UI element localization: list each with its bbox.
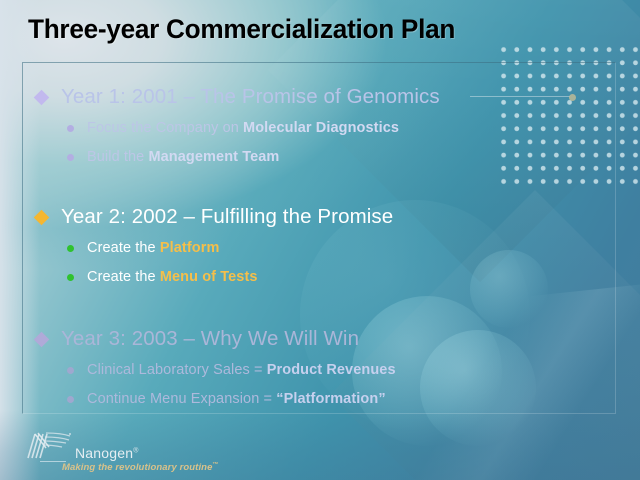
item-text-emphasis: Platform xyxy=(160,240,220,256)
item-text-emphasis: Molecular Diagnostics xyxy=(243,120,399,136)
list-item: Clinical Laboratory Sales = Product Reve… xyxy=(0,357,640,383)
list-item: Create the Platform xyxy=(0,235,640,261)
item-text-emphasis: “Platformation” xyxy=(276,391,385,407)
logo-company-name: Nanogen® xyxy=(75,445,139,461)
year-block-2: Year 2: 2002 – Fulfilling the Promise Cr… xyxy=(0,202,640,290)
item-text-plain: Continue Menu Expansion = xyxy=(87,391,276,407)
presentation-slide: Three-year Commercialization Plan Year 1… xyxy=(0,0,640,480)
logo-tagline: Making the revolutionary routine™ xyxy=(62,462,219,473)
round-bullet-icon xyxy=(67,154,74,161)
list-item: Focus the Company on Molecular Diagnosti… xyxy=(0,115,640,141)
registered-trademark-icon: ® xyxy=(133,447,138,454)
year-2-item-2: Create the Menu of Tests xyxy=(87,269,258,285)
list-item: Continue Menu Expansion = “Platformation… xyxy=(0,386,640,412)
round-bullet-icon xyxy=(67,245,74,252)
item-text-plain: Create the xyxy=(87,269,160,285)
year-1-heading: Year 1: 2001 – The Promise of Genomics xyxy=(61,85,440,109)
round-bullet-icon xyxy=(67,125,74,132)
list-item: Build the Management Team xyxy=(0,144,640,170)
year-3-item-1: Clinical Laboratory Sales = Product Reve… xyxy=(87,362,396,378)
slide-title: Three-year Commercialization Plan xyxy=(28,14,455,45)
year-2-heading-row: Year 2: 2002 – Fulfilling the Promise xyxy=(0,202,640,232)
list-item: Create the Menu of Tests xyxy=(0,264,640,290)
year-3-heading-row: Year 3: 2003 – Why We Will Win xyxy=(0,324,640,354)
diamond-bullet-icon xyxy=(34,209,50,225)
item-text-emphasis: Product Revenues xyxy=(267,362,396,378)
item-text-emphasis: Menu of Tests xyxy=(160,269,258,285)
year-block-3: Year 3: 2003 – Why We Will Win Clinical … xyxy=(0,324,640,412)
nanogen-wave-n-logo-icon xyxy=(22,428,74,464)
trademark-icon: ™ xyxy=(212,462,218,468)
item-text-plain: Create the xyxy=(87,240,160,256)
year-1-item-1: Focus the Company on Molecular Diagnosti… xyxy=(87,120,399,136)
year-3-heading: Year 3: 2003 – Why We Will Win xyxy=(61,327,359,351)
logo-tagline-text: Making the revolutionary routine xyxy=(62,462,212,473)
round-bullet-icon xyxy=(67,274,74,281)
diamond-bullet-icon xyxy=(34,89,50,105)
year-2-heading: Year 2: 2002 – Fulfilling the Promise xyxy=(61,205,393,229)
year-1-heading-row: Year 1: 2001 – The Promise of Genomics xyxy=(0,82,640,112)
year-2-item-1: Create the Platform xyxy=(87,240,219,256)
item-text-plain: Focus the Company on xyxy=(87,120,243,136)
year-3-item-2: Continue Menu Expansion = “Platformation… xyxy=(87,391,386,407)
round-bullet-icon xyxy=(67,367,74,374)
year-1-item-2: Build the Management Team xyxy=(87,149,279,165)
year-block-1: Year 1: 2001 – The Promise of Genomics F… xyxy=(0,82,640,170)
item-text-emphasis: Management Team xyxy=(148,149,279,165)
diamond-bullet-icon xyxy=(34,331,50,347)
item-text-plain: Build the xyxy=(87,149,148,165)
logo-name-text: Nanogen xyxy=(75,445,133,461)
company-logo: Nanogen® Making the revolutionary routin… xyxy=(22,428,252,476)
item-text-plain: Clinical Laboratory Sales = xyxy=(87,362,267,378)
round-bullet-icon xyxy=(67,396,74,403)
